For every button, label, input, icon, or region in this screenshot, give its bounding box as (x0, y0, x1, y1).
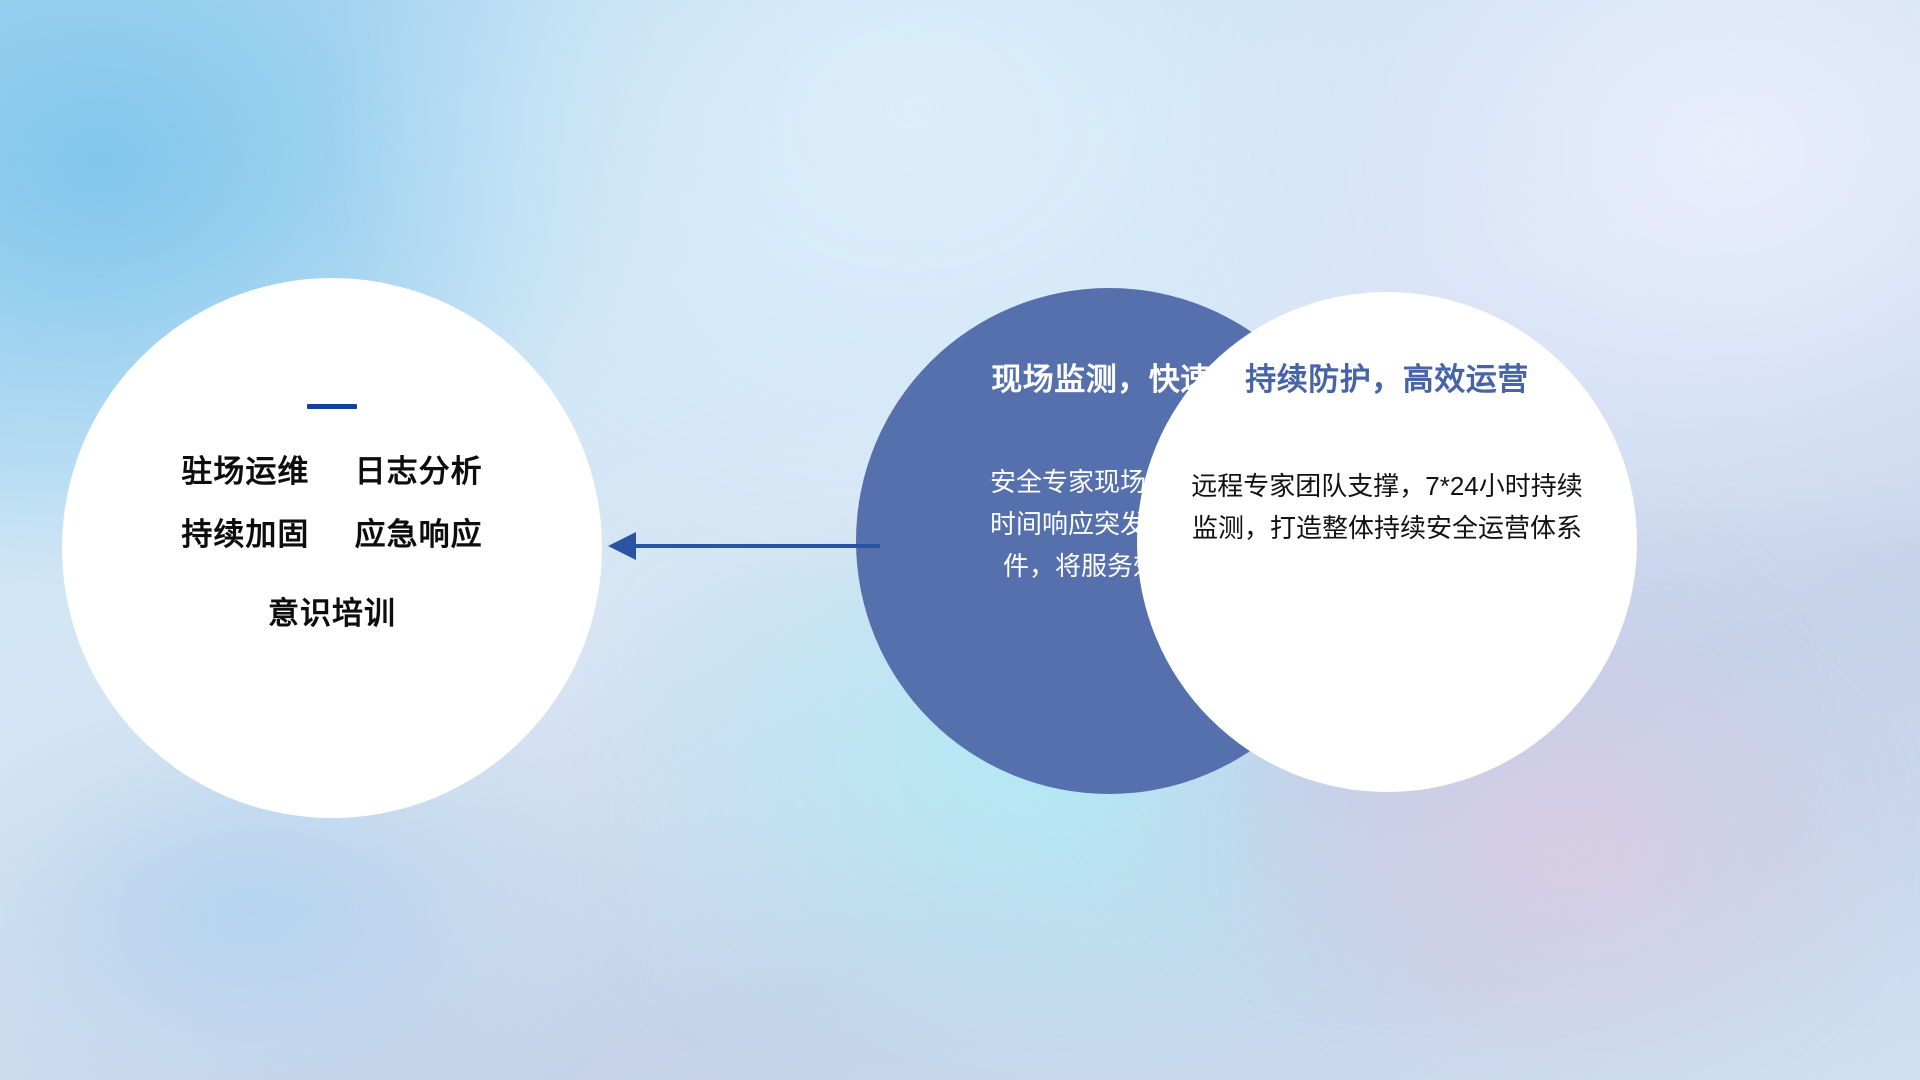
flow-arrow-icon (600, 520, 880, 572)
left-circle-row-3: 意识培训 (268, 597, 396, 631)
left-circle-item-3: 持续加固 (181, 517, 309, 552)
right-circle-content: 持续防护，高效运营 远程专家团队支撑，7*24小时持续监测，打造整体持续安全运营… (1137, 292, 1637, 792)
left-circle-content: 驻场运维 日志分析 持续加固 应急响应 意识培训 (62, 278, 602, 818)
left-circle-row-2: 持续加固 应急响应 (181, 518, 482, 552)
left-circle-row-1: 驻场运维 日志分析 (181, 455, 482, 489)
slide-canvas: 驻场运维 日志分析 持续加固 应急响应 意识培训 现场监测，快速响应 安全专家现… (0, 0, 1920, 1080)
right-circle-body: 远程专家团队支撑，7*24小时持续监测，打造整体持续安全运营体系 (1187, 465, 1587, 549)
left-circle-item-1: 驻场运维 (181, 454, 309, 489)
left-circle-item-2: 日志分析 (355, 454, 483, 489)
left-circle-item-4: 应急响应 (355, 517, 483, 552)
right-circle-title: 持续防护，高效运营 (1245, 354, 1529, 399)
accent-divider-bar (307, 404, 357, 409)
